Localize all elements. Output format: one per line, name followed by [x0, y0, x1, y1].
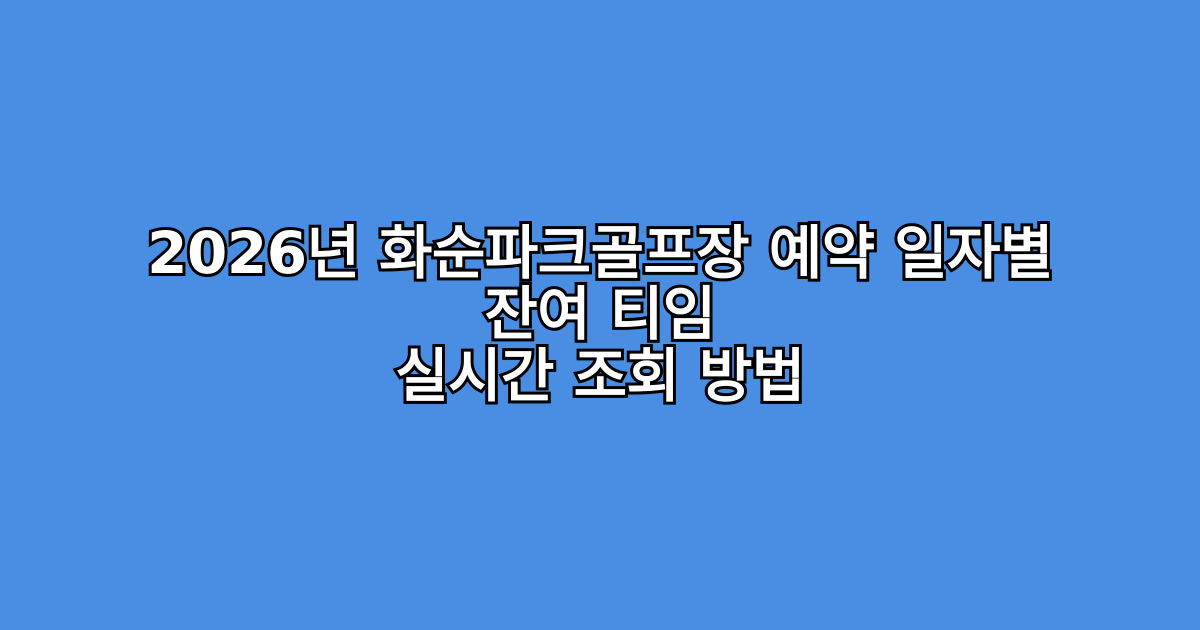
page-title: 2026년 화순파크골프장 예약 일자별 잔여 티임 실시간 조회 방법: [90, 223, 1110, 407]
headline-block: 2026년 화순파크골프장 예약 일자별 잔여 티임 실시간 조회 방법: [70, 223, 1130, 407]
thumbnail-card: 2026년 화순파크골프장 예약 일자별 잔여 티임 실시간 조회 방법: [0, 0, 1200, 630]
